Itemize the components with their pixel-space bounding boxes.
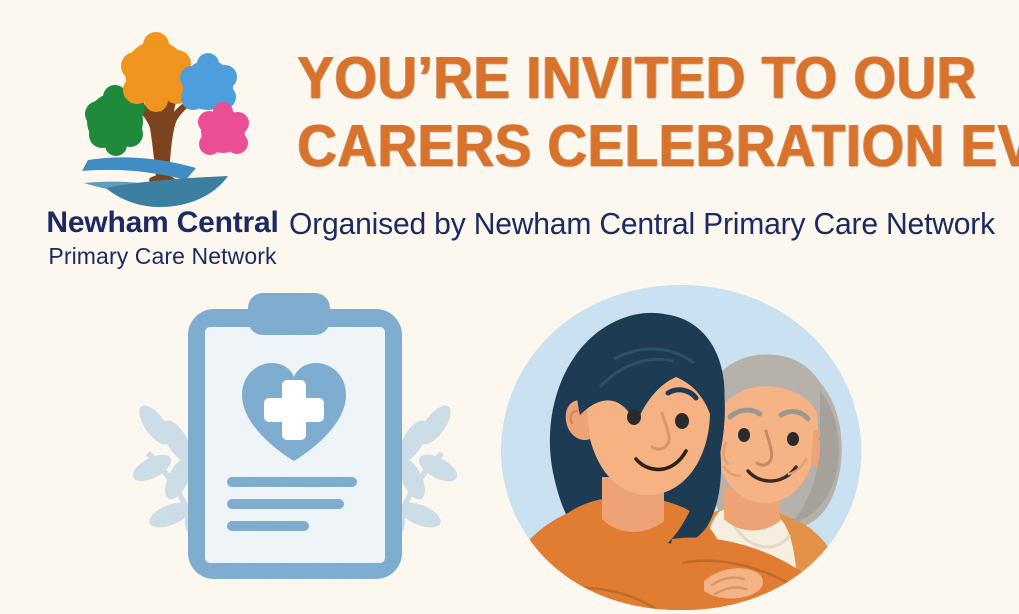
elderly-eye-right — [787, 432, 799, 446]
elderly-eye-left — [738, 428, 750, 442]
subheading: Organised by Newham Central Primary Care… — [283, 206, 1001, 242]
headline-line-2: CARERS CELEBRATION EVENT — [297, 112, 970, 180]
headline-line-1: YOU’RE INVITED TO OUR — [297, 44, 970, 112]
clipboard-text-line — [227, 499, 344, 509]
organisation-logo: Newham Central Primary Care Network — [30, 28, 295, 280]
clipboard-text-line — [227, 521, 309, 531]
page-title: YOU’RE INVITED TO OUR CARERS CELEBRATION… — [272, 44, 996, 180]
logo-organisation-name: Newham Central — [30, 206, 295, 240]
logo-organisation-subtitle: Primary Care Network — [30, 243, 295, 270]
tree-with-waves-logo-icon — [68, 28, 258, 208]
hand-on-shoulder — [812, 558, 863, 589]
carer-and-elderly-woman-illustration — [476, 281, 886, 614]
clipboard-text-line — [227, 477, 357, 487]
medical-clipboard-illustration — [130, 283, 460, 614]
young-eye-right — [675, 413, 689, 429]
young-eye-left — [627, 409, 641, 425]
invitation-poster: Newham Central Primary Care Network YOU’… — [0, 0, 1019, 614]
